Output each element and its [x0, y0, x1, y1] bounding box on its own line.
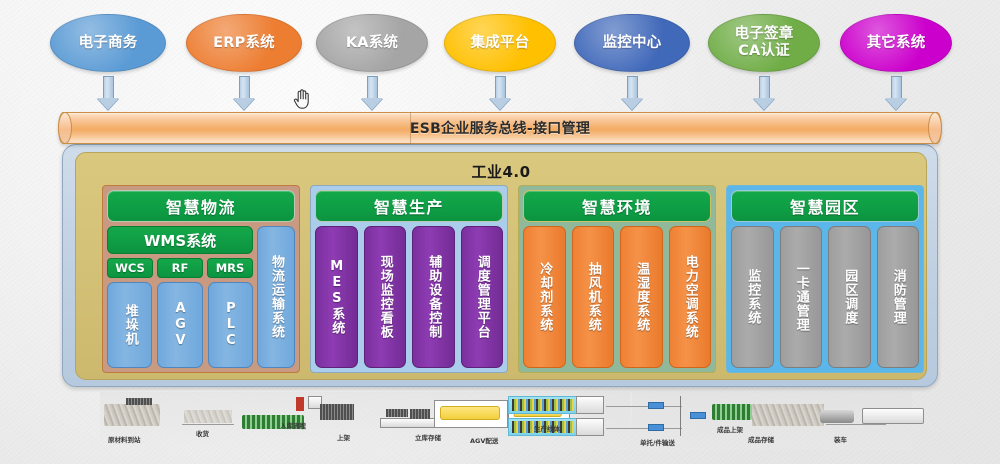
- process-step-label-5: AGV配送: [470, 435, 498, 445]
- finished-goods-icon: [712, 404, 752, 420]
- park-tile-dispatch[interactable]: 园区调度: [828, 226, 871, 368]
- external-system-label: KA系统: [346, 35, 398, 52]
- inbound-light-icon: [296, 397, 304, 411]
- esb-cap-right: [928, 112, 942, 144]
- industry40-panel: 工业4.0 智慧物流 WMS系统 WCS RF MRS 堆垛机 AGV: [75, 152, 927, 380]
- external-system-label: 其它系统: [867, 35, 926, 52]
- wms-sub-rf[interactable]: RF: [157, 258, 203, 278]
- arrow-shaft: [627, 76, 638, 98]
- down-arrow-4: [621, 76, 643, 110]
- external-system-2[interactable]: KA系统: [316, 14, 428, 72]
- down-arrow-3: [489, 76, 511, 110]
- column-park-body: 监控系统 一卡通管理 园区调度 消防管理: [731, 226, 919, 368]
- arrow-shaft: [891, 76, 902, 98]
- machine-icon-2: [576, 418, 604, 436]
- flow-line-3: [606, 428, 682, 429]
- external-system-label: ERP系统: [213, 35, 275, 52]
- device-stacker[interactable]: 堆垛机: [107, 282, 152, 368]
- raw-material-crane-icon: [126, 398, 152, 405]
- external-system-5[interactable]: 电子签章 CA认证: [708, 14, 820, 72]
- external-system-0[interactable]: 电子商务: [50, 14, 166, 72]
- column-production-body: MES系统 现场监控看板 辅助设备控制 调度管理平台: [315, 226, 503, 368]
- receiving-image: [184, 410, 232, 423]
- production-line-image-1: [512, 399, 574, 411]
- process-step-label-3: 上架: [337, 432, 350, 442]
- finished-storage-image: [752, 404, 824, 426]
- conveyor-marker-3: [690, 412, 706, 419]
- truck-trailer-icon: [862, 408, 924, 424]
- external-system-3[interactable]: 集成平台: [444, 14, 556, 72]
- arrow-head: [233, 98, 255, 110]
- park-tile-firesafety[interactable]: 消防管理: [877, 226, 920, 368]
- device-agv[interactable]: AGV: [157, 282, 202, 368]
- agv-vehicle-icon: [440, 406, 500, 420]
- column-logistics-body: WMS系统 WCS RF MRS 堆垛机 AGV PLC 物流运输系统: [107, 226, 295, 368]
- esb-cap-left: [58, 112, 72, 144]
- device-plc[interactable]: PLC: [208, 282, 253, 368]
- environment-tile-exhaust[interactable]: 抽风机系统: [572, 226, 615, 368]
- conveyor-marker-1: [648, 402, 664, 409]
- column-park: 智慧园区 监控系统 一卡通管理 园区调度 消防管理: [726, 185, 924, 373]
- arrow-shaft: [759, 76, 770, 98]
- flow-junction: [680, 396, 681, 436]
- arrow-head: [621, 98, 643, 110]
- external-system-label: 电子签章 CA认证: [735, 26, 794, 59]
- arrow-shaft: [495, 76, 506, 98]
- down-arrow-2: [361, 76, 383, 110]
- external-system-4[interactable]: 监控中心: [574, 14, 690, 72]
- arrow-shaft: [367, 76, 378, 98]
- down-arrow-5: [753, 76, 775, 110]
- logistics-devices: 堆垛机 AGV PLC: [107, 282, 253, 368]
- hand-cursor-icon: [292, 88, 312, 110]
- process-step-label-4: 立库存储: [415, 432, 441, 442]
- down-arrow-0: [97, 76, 119, 110]
- wms-sub-wcs[interactable]: WCS: [107, 258, 153, 278]
- environment-tile-hvac[interactable]: 电力空调系统: [669, 226, 712, 368]
- external-system-label: 集成平台: [471, 35, 530, 52]
- wms-system-box[interactable]: WMS系统: [107, 226, 253, 254]
- process-step-label-6: 生产线体: [534, 423, 560, 433]
- environment-tile-coolant[interactable]: 冷却剂系统: [523, 226, 566, 368]
- arrow-head: [489, 98, 511, 110]
- column-production-header: 智慧生产: [315, 190, 503, 222]
- logistics-left-group: WMS系统 WCS RF MRS 堆垛机 AGV PLC: [107, 226, 253, 368]
- arrow-shaft: [103, 76, 114, 98]
- station-icon: [410, 409, 430, 419]
- production-tile-scheduling[interactable]: 调度管理平台: [461, 226, 504, 368]
- production-tile-auxiliary[interactable]: 辅助设备控制: [412, 226, 455, 368]
- page-title: 工业4.0: [76, 161, 926, 182]
- loading-vehicle-icon: [820, 410, 854, 423]
- column-production: 智慧生产 MES系统 现场监控看板 辅助设备控制 调度管理平台: [310, 185, 508, 373]
- wms-sub-mrs[interactable]: MRS: [207, 258, 253, 278]
- column-environment-header: 智慧环境: [523, 190, 711, 222]
- process-step-label-2: 入库流程: [280, 420, 306, 430]
- arrow-shaft: [239, 76, 250, 98]
- diagram-canvas: 电子商务ERP系统KA系统集成平台监控中心电子签章 CA认证其它系统 ESB企业…: [0, 0, 1000, 464]
- external-system-label: 电子商务: [79, 35, 138, 52]
- external-system-1[interactable]: ERP系统: [186, 14, 302, 72]
- production-tile-mes[interactable]: MES系统: [315, 226, 358, 368]
- down-arrow-6: [885, 76, 907, 110]
- flow-line-4: [826, 424, 886, 425]
- external-system-6[interactable]: 其它系统: [840, 14, 952, 72]
- column-environment-body: 冷却剂系统 抽风机系统 温湿度系统 电力空调系统: [523, 226, 711, 368]
- column-environment: 智慧环境 冷却剂系统 抽风机系统 温湿度系统 电力空调系统: [518, 185, 716, 373]
- environment-tile-humidity[interactable]: 温湿度系统: [620, 226, 663, 368]
- forklift-icon: [320, 404, 354, 420]
- process-step-label-0: 原材料到站: [108, 434, 141, 444]
- rack-icon: [386, 409, 408, 417]
- logistics-transport-system[interactable]: 物流运输系统: [257, 226, 295, 368]
- wms-subsystems: WCS RF MRS: [107, 258, 253, 278]
- column-logistics-header: 智慧物流: [107, 190, 295, 222]
- raw-material-image: [104, 404, 160, 426]
- flow-line-1: [182, 424, 234, 425]
- arrow-head: [885, 98, 907, 110]
- rack-base: [380, 418, 438, 428]
- process-step-label-8: 成品上架: [717, 424, 743, 434]
- production-tile-monitoring[interactable]: 现场监控看板: [364, 226, 407, 368]
- arrow-head: [97, 98, 119, 110]
- external-system-label: 监控中心: [603, 35, 662, 52]
- architecture-panel: 工业4.0 智慧物流 WMS系统 WCS RF MRS 堆垛机 AGV: [62, 144, 938, 387]
- arrow-head: [753, 98, 775, 110]
- process-step-label-10: 装车: [834, 434, 847, 444]
- down-arrow-1: [233, 76, 255, 110]
- column-park-header: 智慧园区: [731, 190, 919, 222]
- park-tile-surveillance[interactable]: 监控系统: [731, 226, 774, 368]
- process-step-label-1: 收货: [196, 428, 209, 438]
- process-step-label-9: 成品存储: [748, 434, 774, 444]
- flow-line-2: [606, 406, 682, 407]
- arrow-head: [361, 98, 383, 110]
- column-logistics: 智慧物流 WMS系统 WCS RF MRS 堆垛机 AGV PLC: [102, 185, 300, 373]
- esb-service-bus[interactable]: ESB企业服务总线-接口管理: [58, 112, 942, 144]
- process-step-label-7: 单托/件输送: [640, 437, 675, 447]
- esb-label: ESB企业服务总线-接口管理: [410, 118, 590, 138]
- park-tile-onecard[interactable]: 一卡通管理: [780, 226, 823, 368]
- machine-icon-1: [576, 396, 604, 414]
- conveyor-marker-2: [648, 424, 664, 431]
